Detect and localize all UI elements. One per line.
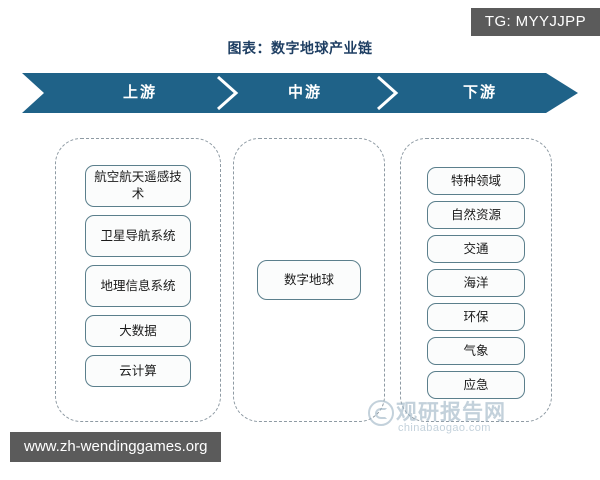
node-box: 气象: [427, 337, 525, 365]
stage-label-midstream: 中游: [250, 73, 360, 113]
stage-label-downstream: 下游: [410, 73, 550, 113]
node-box: 自然资源: [427, 201, 525, 229]
watermark-en-text: chinabaogao.com: [398, 422, 491, 434]
page-title: 图表：数字地球产业链: [0, 38, 600, 58]
node-box: 海洋: [427, 269, 525, 297]
url-banner: www.zh-wendinggames.org: [10, 432, 221, 462]
node-box: 卫星导航系统: [85, 215, 191, 257]
node-box: 云计算: [85, 355, 191, 387]
node-box: 交通: [427, 235, 525, 263]
node-box: 数字地球: [257, 260, 361, 300]
node-box: 应急: [427, 371, 525, 399]
node-box: 特种领域: [427, 167, 525, 195]
node-box: 地理信息系统: [85, 265, 191, 307]
column-upstream: 航空航天遥感技术 卫星导航系统 地理信息系统 大数据 云计算: [55, 138, 221, 422]
column-midstream: 数字地球: [233, 138, 385, 422]
column-downstream: 特种领域 自然资源 交通 海洋 环保 气象 应急: [400, 138, 552, 422]
node-box: 航空航天遥感技术: [85, 165, 191, 207]
tag-badge: TG: MYYJJPP: [471, 8, 600, 36]
node-box: 大数据: [85, 315, 191, 347]
stage-label-upstream: 上游: [60, 73, 220, 113]
node-box: 环保: [427, 303, 525, 331]
